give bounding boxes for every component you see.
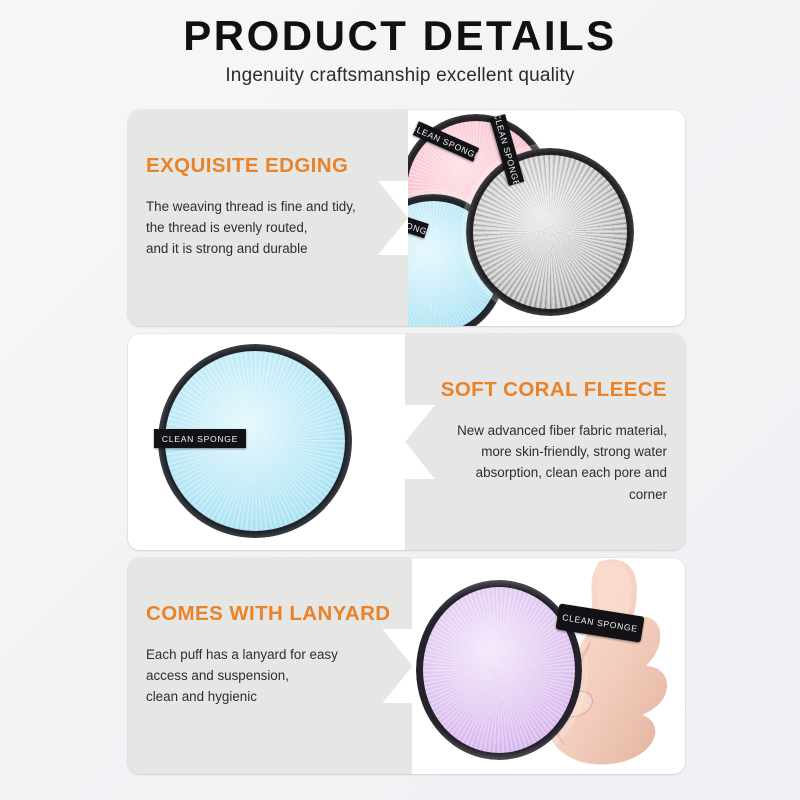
panel-photo: CLEAN SPONGE: [128, 334, 405, 550]
panel-textbox: SOFT CORAL FLEECE New advanced fiber fab…: [405, 334, 685, 550]
panel-photo: CLEAN SPONGE CLEAN SPONGE CLEAN SPONGE: [408, 110, 685, 326]
feature-panel-exquisite-edging: EXQUISITE EDGING The weaving thread is f…: [128, 110, 685, 326]
panel-photo: CLEAN SPONGE: [412, 558, 685, 774]
page-header: PRODUCT DETAILS Ingenuity craftsmanship …: [0, 0, 800, 87]
fur-texture: [466, 148, 634, 316]
panel-body-text: Each puff has a lanyard for easy access …: [146, 644, 390, 708]
page-title: PRODUCT DETAILS: [0, 14, 800, 58]
panel-body-text: New advanced fiber fabric material, more…: [435, 420, 667, 505]
panel-heading: COMES WITH LANYARD: [146, 602, 390, 626]
feature-panel-soft-coral-fleece: SOFT CORAL FLEECE New advanced fiber fab…: [128, 334, 685, 550]
panel-heading: SOFT CORAL FLEECE: [435, 378, 667, 402]
panel-heading: EXQUISITE EDGING: [146, 154, 386, 178]
page-subtitle: Ingenuity craftsmanship excellent qualit…: [0, 65, 800, 87]
feature-panel-comes-with-lanyard: COMES WITH LANYARD Each puff has a lanya…: [128, 558, 685, 774]
panel-body-text: The weaving thread is fine and tidy, the…: [146, 196, 386, 260]
chevron-right-icon: [405, 405, 435, 479]
panel-textbox: EXQUISITE EDGING The weaving thread is f…: [128, 110, 408, 326]
panel-textbox: COMES WITH LANYARD Each puff has a lanya…: [128, 558, 412, 774]
sponge-label-tag: CLEAN SPONGE: [154, 429, 246, 448]
sponge-pad-grey-marl: [466, 148, 634, 316]
sponge-pad-purple: [416, 580, 582, 760]
feature-panel-list: EXQUISITE EDGING The weaving thread is f…: [128, 110, 685, 774]
fur-texture: [416, 580, 582, 760]
